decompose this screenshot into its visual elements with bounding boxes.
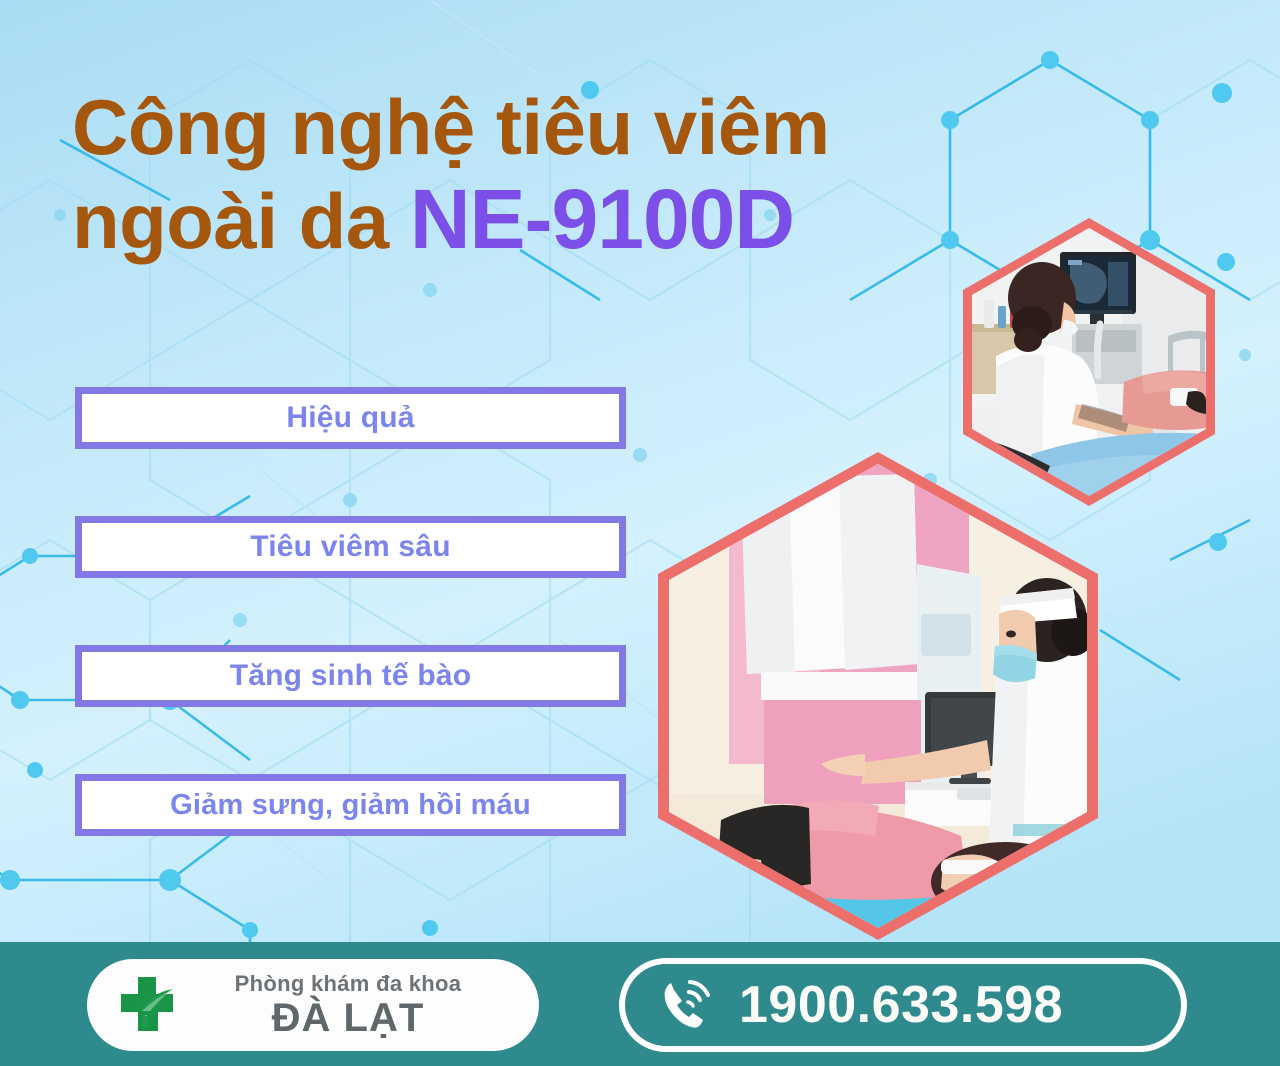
clinic-name: ĐÀ LẠT: [179, 998, 517, 1038]
clinic-branding-pill[interactable]: Phòng khám đa khoa ĐÀ LẠT: [87, 959, 539, 1051]
feature-box-1[interactable]: Tiêu viêm sâu: [75, 516, 626, 578]
footer-bar: Phòng khám đa khoa ĐÀ LẠT 1900.633.598: [0, 942, 1280, 1066]
phone-cta-pill[interactable]: 1900.633.598: [619, 958, 1187, 1052]
headline-line-2-prefix: ngoài da: [72, 177, 410, 265]
phone-number: 1900.633.598: [739, 975, 1063, 1035]
feature-box-0[interactable]: Hiệu quả: [75, 387, 626, 449]
promotional-banner: Công nghệ tiêu viêm ngoài da NE-9100D Hi…: [0, 0, 1280, 1066]
feature-label-1: Tiêu viêm sâu: [250, 530, 450, 564]
headline-line-1: Công nghệ tiêu viêm: [72, 86, 1032, 169]
clinic-text-block: Phòng khám đa khoa ĐÀ LẠT: [179, 973, 539, 1038]
feature-box-3[interactable]: Giảm sưng, giảm hồi máu: [75, 774, 626, 836]
feature-label-3: Giảm sưng, giảm hồi máu: [170, 789, 531, 822]
feature-box-2[interactable]: Tăng sinh tế bào: [75, 645, 626, 707]
feature-label-0: Hiệu quả: [286, 401, 414, 435]
green-cross-leaf-icon: [115, 973, 179, 1037]
product-model-code: NE-9100D: [410, 172, 794, 266]
feature-label-2: Tăng sinh tế bào: [230, 659, 472, 693]
ringing-phone-icon: [657, 975, 717, 1035]
clinic-subtitle: Phòng khám đa khoa: [179, 973, 517, 995]
headline-line-2: ngoài da NE-9100D: [72, 175, 1032, 265]
headline: Công nghệ tiêu viêm ngoài da NE-9100D: [72, 86, 1032, 265]
